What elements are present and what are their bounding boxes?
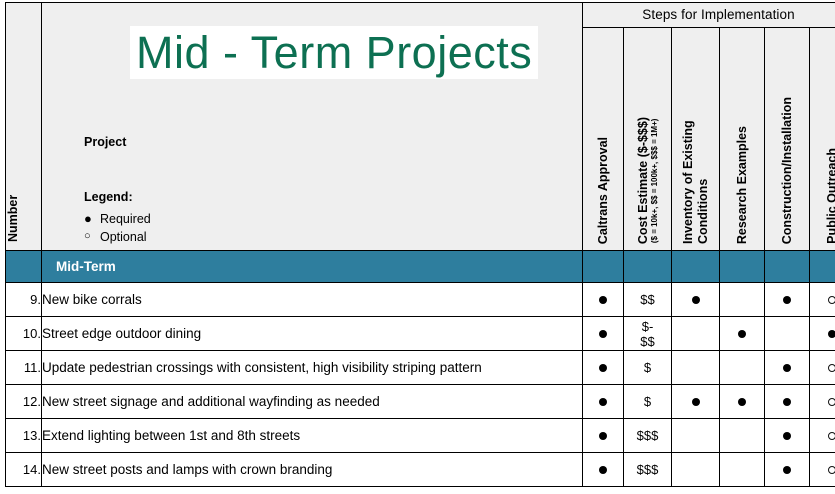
cell-cost-estimate: $$$: [624, 453, 672, 487]
required-marker-icon: [599, 432, 607, 440]
required-marker-icon: [783, 364, 791, 372]
section-row-spacer-1: [583, 251, 624, 283]
cell-inventory: [672, 283, 720, 317]
page-title: Mid - Term Projects: [130, 26, 538, 79]
row-project-name: Update pedestrian crossings with consist…: [42, 351, 583, 385]
cell-caltrans: [583, 419, 624, 453]
cell-research: [720, 317, 765, 351]
cell-construction: [765, 283, 810, 317]
cell-inventory: [672, 317, 720, 351]
project-column-label: Project: [84, 135, 126, 149]
cell-research: [720, 283, 765, 317]
column-header-cost-label: Cost Estimate ($-$$$): [636, 117, 650, 244]
column-header-cost-sublabel: ($ = 10k+, $$ = 100k+, $$$ = 1M+): [650, 117, 659, 243]
cell-cost-estimate: $$: [624, 283, 672, 317]
cell-public-outreach: [810, 283, 835, 317]
cell-public-outreach: [810, 419, 835, 453]
required-marker-icon: [692, 398, 700, 406]
table-row: 12.New street signage and additional way…: [6, 385, 835, 419]
table-row: 10.Street edge outdoor dining$-$$: [6, 317, 835, 351]
row-number: 10.: [6, 317, 42, 351]
legend-item-required: ● Required: [84, 210, 151, 228]
cell-caltrans: [583, 317, 624, 351]
section-row-number-cell: [6, 251, 42, 283]
optional-circle-icon: ○: [84, 231, 100, 242]
legend-list: ● Required ○ Optional: [84, 210, 151, 246]
cell-construction: [765, 351, 810, 385]
table-row: 13.Extend lighting between 1st and 8th s…: [6, 419, 835, 453]
empty-marker: [742, 432, 743, 440]
table-head: Number Mid - Term Projects Project Legen…: [6, 3, 835, 251]
legend-optional-label: Optional: [100, 230, 147, 244]
optional-marker-icon: [828, 296, 835, 304]
cell-construction: [765, 317, 810, 351]
column-header-outreach-label: Public Outreach: [825, 148, 835, 244]
cell-public-outreach: [810, 351, 835, 385]
empty-marker: [742, 296, 743, 304]
required-marker-icon: [783, 296, 791, 304]
empty-marker: [787, 330, 788, 338]
cell-research: [720, 351, 765, 385]
required-marker-icon: [692, 296, 700, 304]
required-marker-icon: [599, 398, 607, 406]
row-project-name: New bike corrals: [42, 283, 583, 317]
optional-marker-icon: [828, 466, 835, 474]
column-header-outreach: Public Outreach: [810, 28, 835, 251]
row-project-name: Street edge outdoor dining: [42, 317, 583, 351]
cell-inventory: [672, 351, 720, 385]
table-row: 9.New bike corrals$$: [6, 283, 835, 317]
row-number: 14.: [6, 453, 42, 487]
row-number: 13.: [6, 419, 42, 453]
cell-research: [720, 385, 765, 419]
empty-marker: [695, 330, 696, 338]
title-legend-cell: Mid - Term Projects Project Legend: ● Re…: [42, 3, 583, 251]
required-marker-icon: [738, 398, 746, 406]
section-row-label-cell: Mid-Term: [42, 251, 583, 283]
legend-item-optional: ○ Optional: [84, 228, 151, 246]
row-number: 9.: [6, 283, 42, 317]
section-row-spacer-6: [810, 251, 835, 283]
row-number: 12.: [6, 385, 42, 419]
required-marker-icon: [599, 296, 607, 304]
column-header-inventory-label: Inventory of Existing Conditions: [681, 68, 711, 244]
column-header-research-label: Research Examples: [735, 126, 750, 244]
required-marker-icon: [599, 364, 607, 372]
cell-cost-estimate: $: [624, 385, 672, 419]
cell-public-outreach: [810, 453, 835, 487]
section-row-spacer-3: [672, 251, 720, 283]
cell-caltrans: [583, 283, 624, 317]
cell-public-outreach: [810, 385, 835, 419]
cell-construction: [765, 453, 810, 487]
cell-cost-estimate: $: [624, 351, 672, 385]
empty-marker: [742, 466, 743, 474]
column-header-cost: Cost Estimate ($-$$$) ($ = 10k+, $$ = 10…: [624, 28, 672, 251]
column-header-caltrans-label: Caltrans Approval: [596, 137, 611, 244]
column-header-research: Research Examples: [720, 28, 765, 251]
column-header-inventory: Inventory of Existing Conditions: [672, 28, 720, 251]
mid-term-projects-table: Number Mid - Term Projects Project Legen…: [5, 2, 835, 487]
optional-marker-icon: [828, 398, 835, 406]
number-header-cell: Number: [6, 3, 42, 251]
table-body: Mid-Term 9.New bike corrals$$10.Street e…: [6, 251, 835, 487]
required-marker-icon: [828, 330, 835, 338]
section-label: Mid-Term: [42, 259, 116, 274]
row-project-name: New street posts and lamps with crown br…: [42, 453, 583, 487]
row-project-name: Extend lighting between 1st and 8th stre…: [42, 419, 583, 453]
section-row-mid-term: Mid-Term: [6, 251, 835, 283]
optional-marker-icon: [828, 364, 835, 372]
legend-required-label: Required: [100, 212, 151, 226]
project-matrix-sheet: Number Mid - Term Projects Project Legen…: [0, 0, 835, 494]
section-row-spacer-4: [720, 251, 765, 283]
optional-marker-icon: [828, 432, 835, 440]
legend-heading: Legend:: [84, 190, 133, 204]
cell-inventory: [672, 385, 720, 419]
section-row-spacer-5: [765, 251, 810, 283]
empty-marker: [695, 466, 696, 474]
section-row-spacer-2: [624, 251, 672, 283]
required-bullet-icon: ●: [84, 212, 100, 225]
table-row: 14.New street posts and lamps with crown…: [6, 453, 835, 487]
cell-cost-estimate: $-$$: [624, 317, 672, 351]
empty-marker: [695, 364, 696, 372]
cell-caltrans: [583, 351, 624, 385]
group-header-row: Number Mid - Term Projects Project Legen…: [6, 3, 835, 28]
row-number: 11.: [6, 351, 42, 385]
required-marker-icon: [783, 432, 791, 440]
empty-marker: [695, 432, 696, 440]
empty-marker: [742, 364, 743, 372]
cell-construction: [765, 385, 810, 419]
cell-inventory: [672, 419, 720, 453]
cell-research: [720, 419, 765, 453]
row-project-name: New street signage and additional wayfin…: [42, 385, 583, 419]
required-marker-icon: [599, 330, 607, 338]
required-marker-icon: [783, 398, 791, 406]
required-marker-icon: [738, 330, 746, 338]
cell-cost-estimate: $$$: [624, 419, 672, 453]
steps-group-header: Steps for Implementation: [583, 3, 835, 28]
required-marker-icon: [783, 466, 791, 474]
table-row: 11.Update pedestrian crossings with cons…: [6, 351, 835, 385]
cell-inventory: [672, 453, 720, 487]
column-header-construction: Construction/Installation: [765, 28, 810, 251]
cell-caltrans: [583, 385, 624, 419]
cell-public-outreach: [810, 317, 835, 351]
column-header-construction-label: Construction/Installation: [780, 97, 795, 244]
cell-caltrans: [583, 453, 624, 487]
required-marker-icon: [599, 466, 607, 474]
cell-research: [720, 453, 765, 487]
cell-construction: [765, 419, 810, 453]
number-column-label: Number: [6, 182, 41, 242]
column-header-caltrans: Caltrans Approval: [583, 28, 624, 251]
